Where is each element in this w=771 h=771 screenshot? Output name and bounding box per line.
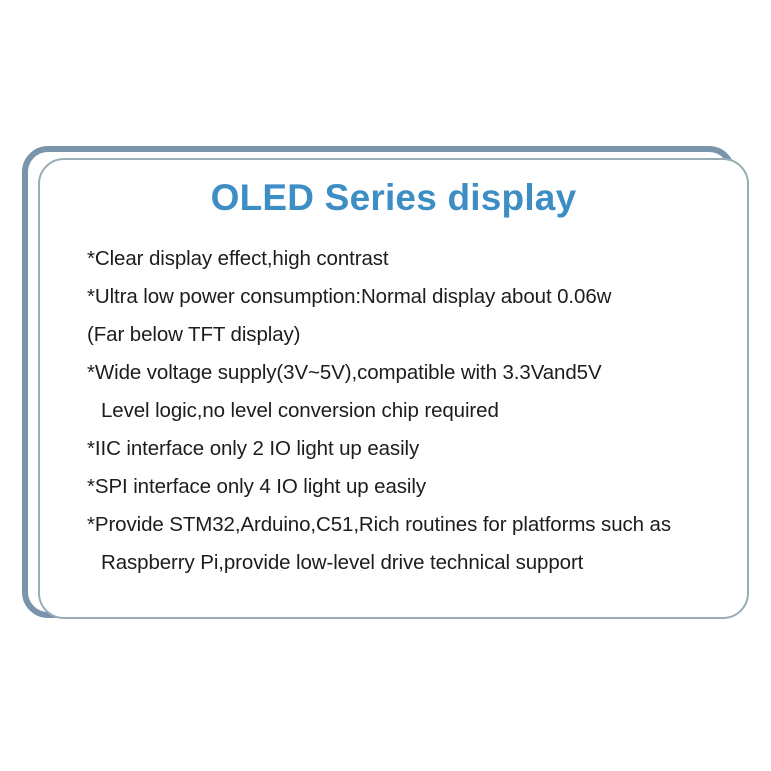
feature-line: *IIC interface only 2 IO light up easily <box>87 430 733 468</box>
feature-line: *Ultra low power consumption:Normal disp… <box>87 278 733 316</box>
oled-spec-card: OLED Series display *Clear display effec… <box>38 158 749 619</box>
feature-list: *Clear display effect,high contrast*Ultr… <box>87 240 733 582</box>
feature-line: *Provide STM32,Arduino,C51,Rich routines… <box>87 506 733 544</box>
feature-line: (Far below TFT display) <box>87 316 733 354</box>
feature-line: *Wide voltage supply(3V~5V),compatible w… <box>87 354 733 392</box>
page-title: OLED Series display <box>40 176 747 220</box>
feature-line: *SPI interface only 4 IO light up easily <box>87 468 733 506</box>
feature-line: Raspberry Pi,provide low-level drive tec… <box>87 544 733 582</box>
page-root: OLED Series display *Clear display effec… <box>0 0 771 771</box>
feature-line: *Clear display effect,high contrast <box>87 240 733 278</box>
card-inner: OLED Series display *Clear display effec… <box>40 160 747 617</box>
feature-line: Level logic,no level conversion chip req… <box>87 392 733 430</box>
